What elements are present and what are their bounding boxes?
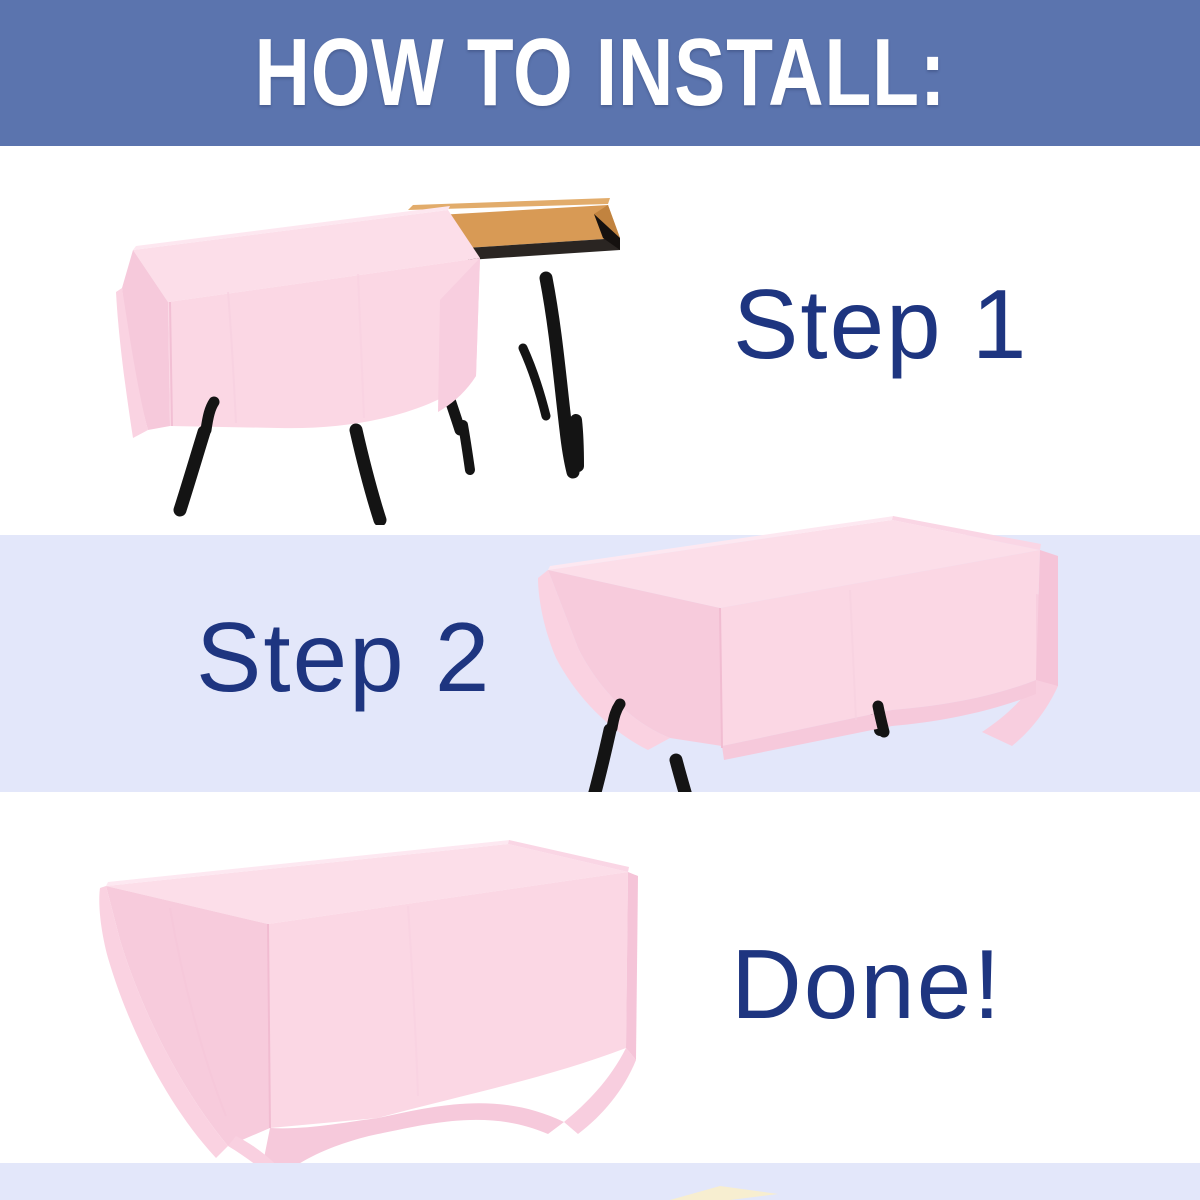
next-table-top-face bbox=[670, 1186, 778, 1200]
table-leg-rear-right bbox=[546, 278, 573, 472]
table-leg-rear-right-lower bbox=[576, 420, 578, 466]
next-section-illustration bbox=[660, 1180, 780, 1200]
page-title: HOW TO INSTALL: bbox=[254, 25, 946, 121]
table-leg-front-left bbox=[180, 432, 204, 510]
step-2-label: Step 2 bbox=[196, 608, 491, 706]
infographic-page: HOW TO INSTALL: bbox=[0, 0, 1200, 1200]
table-leg-rear-visible bbox=[878, 706, 884, 732]
table-leg-brace bbox=[523, 348, 546, 416]
next-section-band bbox=[0, 1163, 1200, 1200]
header-banner: HOW TO INSTALL: bbox=[0, 0, 1200, 146]
table-partially-covered-icon bbox=[108, 180, 688, 525]
table-leg-front-right bbox=[356, 430, 380, 520]
table-fully-fitted-icon bbox=[78, 828, 658, 1200]
done-illustration bbox=[78, 828, 658, 1200]
table-top-partial-icon bbox=[660, 1180, 780, 1200]
done-label: Done! bbox=[731, 935, 1003, 1033]
step-1-illustration bbox=[108, 180, 688, 525]
table-leg-rear-left-lower bbox=[463, 425, 470, 470]
step-1-label: Step 1 bbox=[733, 275, 1028, 373]
cover-right-end-panel bbox=[626, 872, 638, 1060]
